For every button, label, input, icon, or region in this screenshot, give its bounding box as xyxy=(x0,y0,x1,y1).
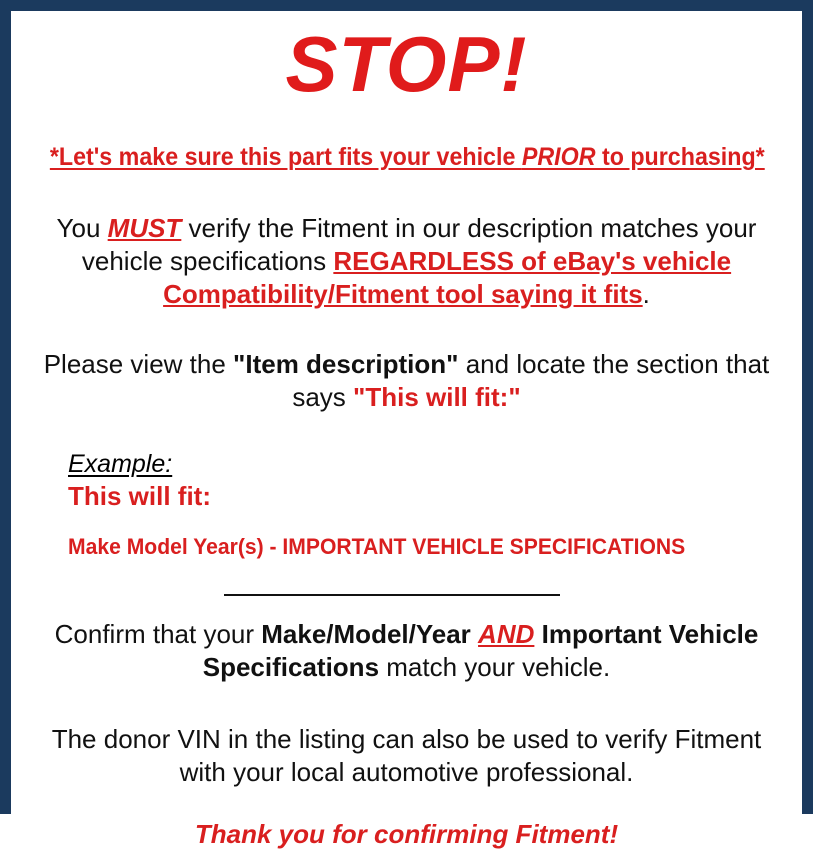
closing-thanks: Thank you for confirming Fitment! xyxy=(21,819,792,850)
paragraph-donor-vin: The donor VIN in the listing can also be… xyxy=(21,723,792,790)
must-seg3: . xyxy=(643,279,650,309)
example-label: Example: xyxy=(68,450,172,479)
example-label-row: Example: xyxy=(68,450,792,479)
this-will-fit-emphasis: "This will fit:" xyxy=(353,382,521,412)
confirm-seg1: Confirm that your xyxy=(55,619,262,649)
must-emphasis: MUST xyxy=(108,213,182,243)
subtitle-part2: to purchasing* xyxy=(595,143,764,171)
subtitle-line: *Let's make sure this part fits your veh… xyxy=(48,143,765,172)
confirm-seg2: match your vehicle. xyxy=(379,652,610,682)
paragraph-must-verify: You MUST verify the Fitment in our descr… xyxy=(21,212,792,312)
horizontal-divider xyxy=(224,594,560,596)
subtitle-prior-emphasis: PRIOR xyxy=(522,143,596,171)
example-block: Example: This will fit: Make Model Year(… xyxy=(21,450,792,560)
fitment-notice-banner: STOP! *Let's make sure this part fits yo… xyxy=(0,0,813,814)
paragraph-confirm: Confirm that your Make/Model/Year AND Im… xyxy=(21,618,792,685)
must-seg1: You xyxy=(57,213,108,243)
page-title: STOP! xyxy=(21,25,792,103)
and-emphasis: AND xyxy=(478,619,534,649)
paragraph-item-description: Please view the "Item description" and l… xyxy=(21,348,792,415)
divider-wrapper xyxy=(21,586,792,600)
make-model-year-emphasis: Make/Model/Year xyxy=(261,619,471,649)
description-seg1: Please view the xyxy=(44,349,233,379)
subtitle-part1: *Let's make sure this part fits your veh… xyxy=(50,143,522,171)
example-fit-heading: This will fit: xyxy=(68,481,792,512)
item-description-emphasis: "Item description" xyxy=(233,349,458,379)
example-spec-line: Make Model Year(s) - IMPORTANT VEHICLE S… xyxy=(68,534,763,560)
notice-content: STOP! *Let's make sure this part fits yo… xyxy=(11,25,802,817)
